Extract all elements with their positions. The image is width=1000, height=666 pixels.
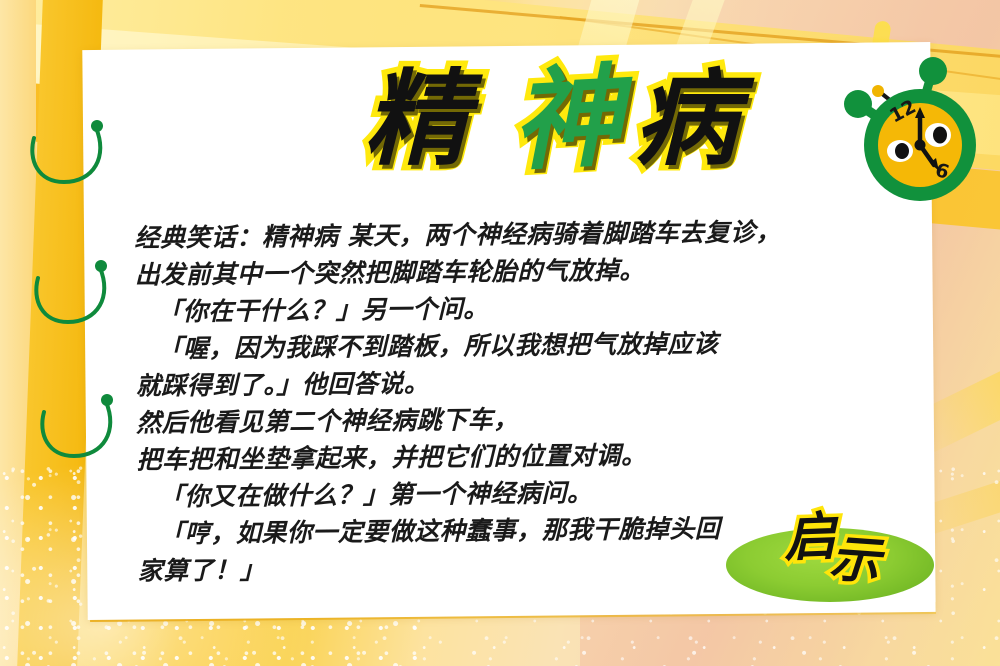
clock-bee-icon: 12 6 (828, 46, 998, 216)
status-badge: 启 示 (726, 500, 936, 610)
spiral-loop-icon (24, 256, 116, 334)
poster-canvas: 精 神 病 经典笑话：精神病 某天，两个神经病骑着脚踏车去复诊， 出发前其中一个… (0, 0, 1000, 666)
page-title: 精 神 病 (330, 44, 770, 194)
eye-right-pupil (933, 127, 947, 144)
clock-bee-character: 12 6 (828, 46, 998, 216)
spiral-loop-end-dot (91, 120, 103, 132)
antenna-right-ball (919, 57, 947, 85)
title-char-1: 精 (364, 67, 466, 171)
title-char-3: 病 (634, 67, 736, 171)
spiral-loop-end-dot (101, 394, 113, 406)
badge-char-1: 启 (783, 511, 837, 565)
spiral-binding-2 (24, 256, 116, 338)
spiral-loop-end-dot (95, 260, 107, 272)
title-char-2: 神 (509, 61, 623, 177)
spiral-loop-icon (20, 116, 112, 194)
clock-center-pin (915, 140, 926, 151)
spiral-loop-path (42, 402, 110, 456)
badge-char-2: 示 (828, 533, 881, 586)
spiral-binding-1 (20, 116, 112, 198)
spiral-loop-icon (30, 390, 122, 468)
badge-label: 启 示 (748, 502, 918, 586)
body-line: 经典笑话：精神病 某天，两个神经病骑着脚踏车去复诊， (134, 212, 874, 256)
spiral-loop-path (36, 268, 104, 322)
antenna-pin-ball (872, 85, 884, 97)
spiral-loop-path (32, 128, 100, 182)
spiral-binding-3 (30, 390, 122, 472)
antenna-left-ball (844, 90, 872, 118)
eye-left-pupil (895, 143, 909, 159)
